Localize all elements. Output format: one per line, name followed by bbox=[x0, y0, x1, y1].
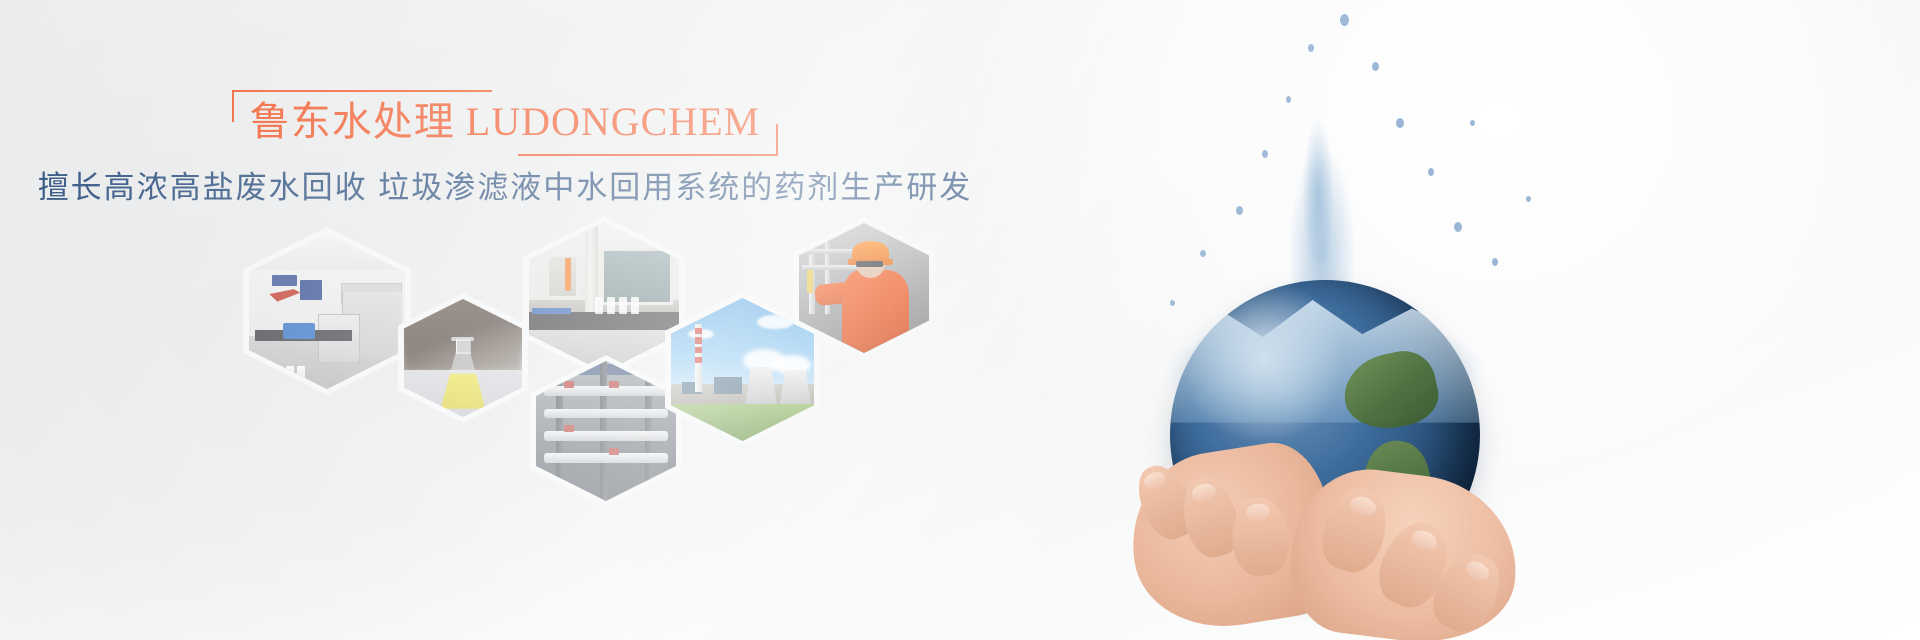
page-title: 鲁东水处理 LUDONGCHEM bbox=[234, 96, 776, 148]
title-wrapper: 鲁东水处理 LUDONGCHEM bbox=[0, 96, 1010, 152]
bracket-top-left-icon bbox=[232, 90, 492, 122]
water-globe-artwork bbox=[1040, 0, 1920, 640]
page-subtitle: 擅长高浓高盐废水回收 垃圾渗滤液中水回用系统的药剂生产研发 bbox=[0, 166, 1010, 210]
hero-banner: 鲁东水处理 LUDONGCHEM 擅长高浓高盐废水回收 垃圾渗滤液中水回用系统的… bbox=[0, 0, 1920, 640]
hex-piping[interactable] bbox=[530, 355, 682, 507]
hex-flask[interactable] bbox=[398, 293, 528, 423]
hex-lab-room[interactable] bbox=[243, 227, 411, 395]
hex-lab-bench[interactable] bbox=[523, 216, 685, 378]
banner-text-block: 鲁东水处理 LUDONGCHEM 擅长高浓高盐废水回收 垃圾渗滤液中水回用系统的… bbox=[0, 96, 1010, 210]
bracket-bottom-right-icon bbox=[518, 124, 778, 156]
